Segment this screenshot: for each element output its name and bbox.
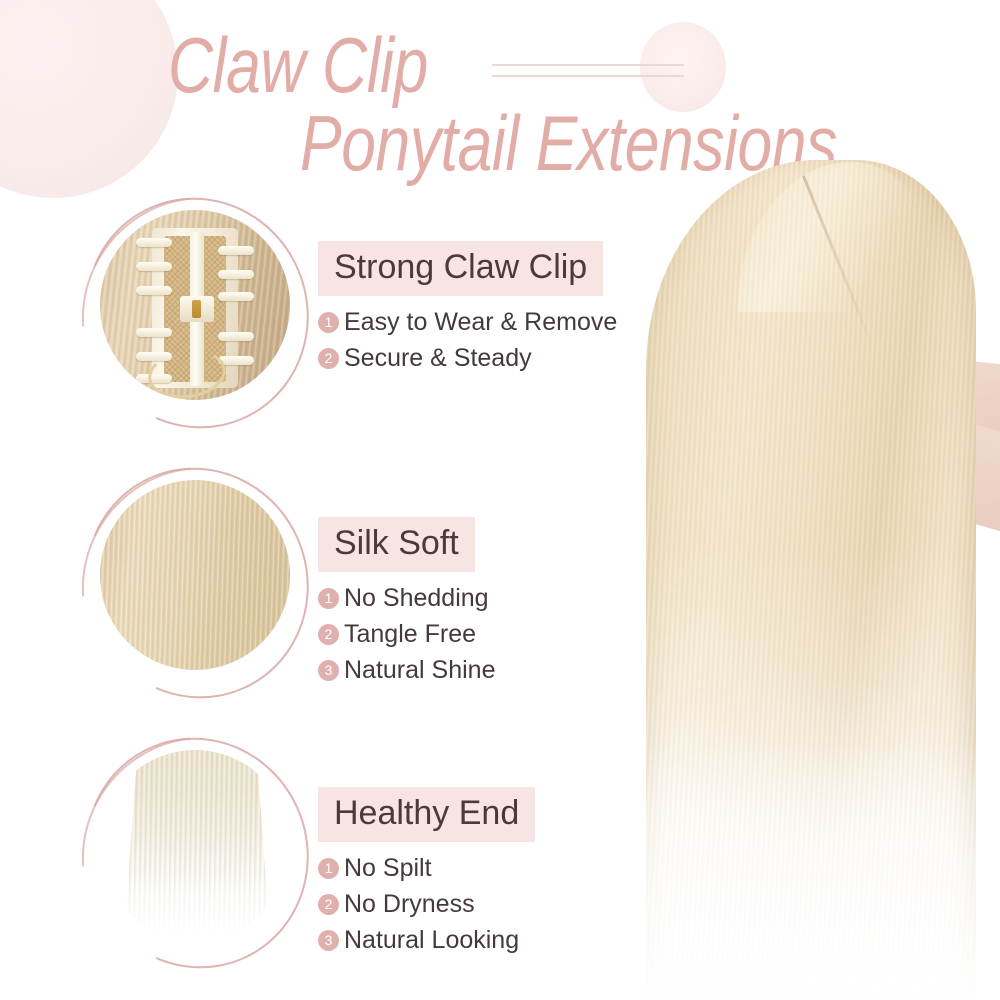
ponytail-hair-mass xyxy=(646,160,976,1000)
list-item: 1 Easy to Wear & Remove xyxy=(318,306,640,338)
bullet-text: Easy to Wear & Remove xyxy=(344,306,617,338)
product-infographic: Claw Clip Ponytail Extensions xyxy=(0,0,1000,1000)
feature-bullet-list: 1 No Shedding 2 Tangle Free 3 Natural Sh… xyxy=(318,582,640,686)
list-item: 2 Secure & Steady xyxy=(318,342,640,374)
hair-texture xyxy=(100,480,290,670)
list-item: 1 No Spilt xyxy=(318,852,640,884)
bullet-number-badge: 3 xyxy=(318,930,339,951)
feature-heading: Strong Claw Clip xyxy=(318,241,603,296)
list-item: 2 No Dryness xyxy=(318,888,640,920)
bullet-number-badge: 2 xyxy=(318,348,339,369)
bullet-text: No Spilt xyxy=(344,852,432,884)
bullet-number-badge: 2 xyxy=(318,624,339,645)
clip-hinge xyxy=(180,296,214,322)
clip-tooth xyxy=(218,246,254,255)
bullet-text: Secure & Steady xyxy=(344,342,532,374)
bullet-text: No Dryness xyxy=(344,888,475,920)
feature-3-image xyxy=(78,725,308,975)
feature-heading: Silk Soft xyxy=(318,517,475,572)
silky-hair-photo xyxy=(100,480,290,670)
decorative-blob-top-left xyxy=(0,0,178,198)
feature-2-text: Silk Soft 1 No Shedding 2 Tangle Free 3 … xyxy=(318,517,640,690)
bullet-number-badge: 1 xyxy=(318,588,339,609)
bullet-text: Natural Looking xyxy=(344,924,519,956)
hair-ends-photo xyxy=(100,750,290,940)
bullet-text: No Shedding xyxy=(344,582,489,614)
bullet-number-badge: 2 xyxy=(318,894,339,915)
list-item: 1 No Shedding xyxy=(318,582,640,614)
feature-1-text: Strong Claw Clip 1 Easy to Wear & Remove… xyxy=(318,241,640,378)
bullet-text: Natural Shine xyxy=(344,654,495,686)
clip-tooth xyxy=(218,292,254,301)
feature-3-text: Healthy End 1 No Spilt 2 No Dryness 3 Na… xyxy=(318,787,640,960)
bullet-text: Tangle Free xyxy=(344,618,476,650)
bullet-number-badge: 1 xyxy=(318,858,339,879)
feature-bullet-list: 1 No Spilt 2 No Dryness 3 Natural Lookin… xyxy=(318,852,640,956)
clip-tooth xyxy=(218,270,254,279)
title-divider-line xyxy=(492,64,684,77)
list-item: 3 Natural Looking xyxy=(318,924,640,956)
list-item: 2 Tangle Free xyxy=(318,618,640,650)
feature-1-image xyxy=(78,185,308,435)
clip-tooth xyxy=(136,238,172,247)
product-photo xyxy=(600,160,1000,1000)
bullet-number-badge: 1 xyxy=(318,312,339,333)
list-item: 3 Natural Shine xyxy=(318,654,640,686)
feature-heading: Healthy End xyxy=(318,787,535,842)
claw-clip-photo xyxy=(100,210,290,400)
feature-2-image xyxy=(78,455,308,705)
ends-fade-overlay xyxy=(100,870,290,940)
clip-tooth xyxy=(136,328,172,337)
clip-tooth xyxy=(136,286,172,295)
title-line-1: Claw Clip xyxy=(168,20,428,111)
feature-bullet-list: 1 Easy to Wear & Remove 2 Secure & Stead… xyxy=(318,306,640,374)
bullet-number-badge: 3 xyxy=(318,660,339,681)
clip-tooth xyxy=(218,332,254,341)
clip-tooth xyxy=(136,262,172,271)
